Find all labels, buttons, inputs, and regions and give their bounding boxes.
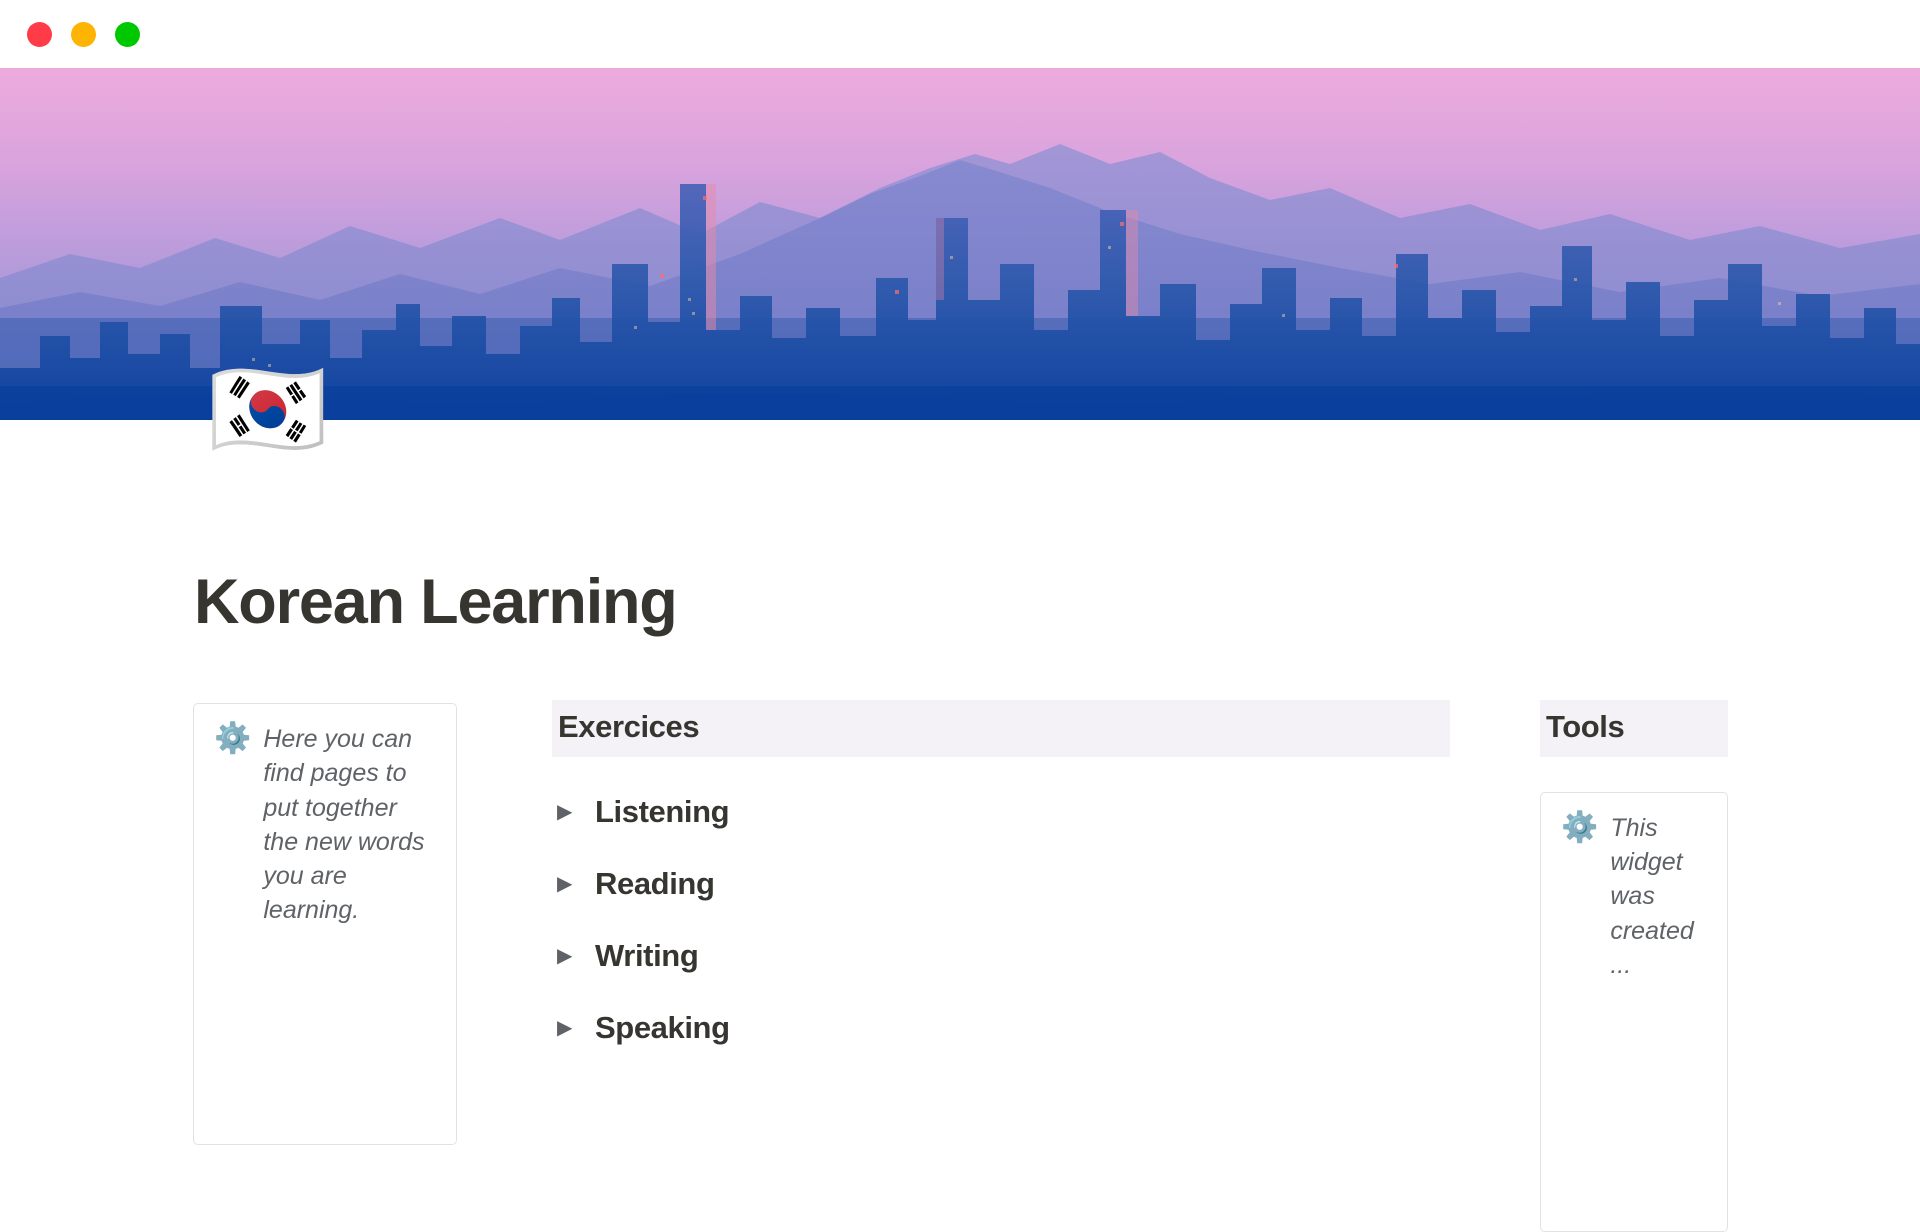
callout-text: This widget was created ... [1610, 811, 1707, 982]
toggle-label-reading: Reading [595, 866, 715, 902]
toggle-label-speaking: Speaking [595, 1010, 730, 1046]
exercices-heading[interactable]: Exercices [558, 708, 1444, 747]
callout-block-vocabulary[interactable]: ⚙️ Here you can find pages to put togeth… [193, 703, 457, 1145]
south-korea-flag-emoji[interactable]: 🇰🇷 [208, 362, 328, 458]
exercices-toggle-list: ▶ Listening ▶ Reading ▶ Writing ▶ Speaki… [552, 785, 1450, 1055]
tools-heading-band: Tools [1540, 700, 1728, 757]
column-left: ⚙️ Here you can find pages to put togeth… [193, 703, 457, 1145]
close-window-button[interactable] [27, 22, 52, 47]
toggle-item-writing[interactable]: ▶ Writing [552, 929, 1450, 983]
chevron-right-icon[interactable]: ▶ [557, 946, 573, 966]
tools-heading[interactable]: Tools [1546, 708, 1722, 747]
callout-text: Here you can find pages to put together … [263, 722, 436, 928]
gear-icon: ⚙️ [214, 722, 251, 755]
toggle-label-listening: Listening [595, 794, 729, 830]
toggle-item-speaking[interactable]: ▶ Speaking [552, 1001, 1450, 1055]
page-title[interactable]: Korean Learning [194, 568, 677, 637]
page-columns: ⚙️ Here you can find pages to put togeth… [0, 700, 1920, 1200]
gear-icon: ⚙️ [1561, 811, 1598, 844]
exercices-heading-band: Exercices [552, 700, 1450, 757]
column-right: Tools ⚙️ This widget was created ... [1540, 700, 1728, 1232]
chevron-right-icon[interactable]: ▶ [557, 874, 573, 894]
chevron-right-icon[interactable]: ▶ [557, 802, 573, 822]
window-titlebar [0, 0, 1920, 68]
toggle-label-writing: Writing [595, 938, 698, 974]
toggle-item-listening[interactable]: ▶ Listening [552, 785, 1450, 839]
toggle-item-reading[interactable]: ▶ Reading [552, 857, 1450, 911]
chevron-right-icon[interactable]: ▶ [557, 1018, 573, 1038]
minimize-window-button[interactable] [71, 22, 96, 47]
callout-block-widget[interactable]: ⚙️ This widget was created ... [1540, 792, 1728, 1232]
maximize-window-button[interactable] [115, 22, 140, 47]
column-middle: Exercices ▶ Listening ▶ Reading ▶ Writin… [552, 700, 1450, 1073]
